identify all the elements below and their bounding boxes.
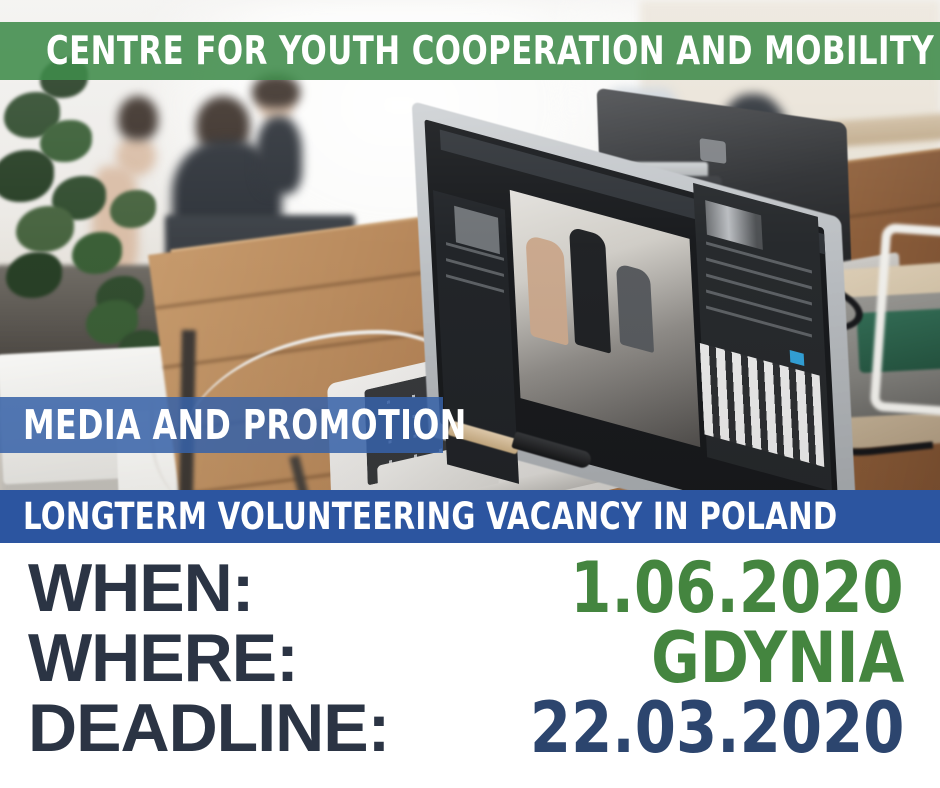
photo-editor-subject-a (525, 234, 568, 346)
photo-second-laptop-logo (700, 138, 727, 164)
detail-value-deadline: 22.03.2020 (529, 693, 904, 763)
detail-row-when: WHEN: 1.06.2020 (0, 549, 940, 626)
photo-editor-subject-c (616, 263, 654, 354)
background-photo (0, 0, 940, 543)
vacancy-band: LONGTERM VOLUNTEERING VACANCY IN POLAND (0, 490, 940, 543)
vacancy-title: LONGTERM VOLUNTEERING VACANCY IN POLAND (23, 495, 837, 538)
photo-person-body-3 (256, 116, 302, 194)
detail-label-where: WHERE: (28, 624, 298, 692)
organization-title: CENTRE FOR YOUTH COOPERATION AND MOBILIT… (46, 29, 934, 74)
detail-value-where: GDYNIA (651, 623, 904, 693)
detail-label-deadline: DEADLINE: (28, 694, 389, 762)
photo-editor-subject-b (569, 226, 611, 354)
detail-label-when: WHEN: (28, 554, 253, 622)
detail-value-when: 1.06.2020 (571, 553, 904, 623)
poster: CENTRE FOR YOUTH COOPERATION AND MOBILIT… (0, 0, 940, 788)
category-title: MEDIA AND PROMOTION (23, 401, 467, 449)
category-band: MEDIA AND PROMOTION (0, 397, 443, 453)
detail-row-deadline: DEADLINE: 22.03.2020 (0, 689, 940, 766)
detail-row-where: WHERE: GDYNIA (0, 619, 940, 696)
details-section: WHEN: 1.06.2020 WHERE: GDYNIA DEADLINE: … (0, 543, 940, 788)
organization-band: CENTRE FOR YOUTH COOPERATION AND MOBILIT… (0, 22, 940, 80)
photo-person-hair-2 (118, 96, 158, 140)
